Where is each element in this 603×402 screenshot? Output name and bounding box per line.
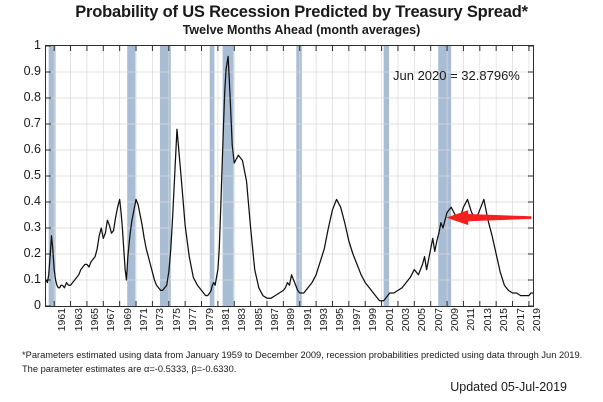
plot-area — [45, 45, 534, 307]
x-tick-label: 1991 — [303, 308, 313, 331]
x-tick-label: 1967 — [106, 308, 116, 331]
y-tick-label: 0.7 — [5, 117, 41, 129]
y-tick-label: 0.5 — [5, 169, 41, 181]
x-tick-label: 2017 — [516, 308, 526, 331]
x-tick-label: 2019 — [532, 308, 542, 331]
footnote: *Parameters estimated using data from Ja… — [22, 349, 592, 376]
x-tick-label: 2011 — [466, 308, 476, 331]
recession-probability-line — [46, 56, 533, 300]
x-tick-label: 2015 — [499, 308, 509, 331]
x-tick-label: 2005 — [417, 308, 427, 331]
footnote-line-1: *Parameters estimated using data from Ja… — [22, 349, 592, 363]
chart-root: Probability of US Recession Predicted by… — [0, 0, 603, 402]
chart-title: Probability of US Recession Predicted by… — [0, 3, 603, 22]
y-axis: 00.10.20.30.40.50.60.70.80.91 — [0, 45, 41, 307]
footnote-line-2: The parameter estimates are α=-0.5333, β… — [22, 363, 592, 377]
x-tick-label: 2009 — [450, 308, 460, 331]
x-tick-label: 1965 — [90, 308, 100, 331]
y-tick-label: 0.3 — [5, 221, 41, 233]
y-tick-label: 0.6 — [5, 143, 41, 155]
y-tick-label: 0.1 — [5, 273, 41, 285]
x-tick-label: 1997 — [352, 308, 362, 331]
updated-date: Updated 05-Jul-2019 — [0, 380, 567, 394]
x-tick-label: 1983 — [237, 308, 247, 331]
x-tick-label: 1985 — [254, 308, 264, 331]
x-tick-label: 1987 — [270, 308, 280, 331]
x-tick-label: 2003 — [401, 308, 411, 331]
x-tick-label: 2001 — [385, 308, 395, 331]
x-axis: 1961196319651967196919711973197519771979… — [45, 308, 534, 348]
y-tick-label: 0 — [5, 299, 41, 311]
x-tick-label: 2013 — [483, 308, 493, 331]
x-tick-label: 1961 — [57, 308, 67, 331]
x-tick-label: 1973 — [155, 308, 165, 331]
x-tick-label: 1989 — [286, 308, 296, 331]
x-tick-label: 1969 — [123, 308, 133, 331]
x-tick-label: 1975 — [172, 308, 182, 331]
y-tick-label: 0.8 — [5, 91, 41, 103]
gridlines — [46, 46, 533, 306]
y-tick-label: 0.9 — [5, 65, 41, 77]
x-tick-label: 2007 — [434, 308, 444, 331]
x-tick-label: 1999 — [368, 308, 378, 331]
x-tick-label: 1977 — [188, 308, 198, 331]
x-tick-label: 1993 — [319, 308, 329, 331]
y-tick-label: 0.4 — [5, 195, 41, 207]
chart-subtitle: Twelve Months Ahead (month averages) — [0, 23, 603, 37]
y-tick-label: 0.2 — [5, 247, 41, 259]
value-annotation: Jun 2020 = 32.8796% — [393, 68, 520, 83]
y-tick-label: 1 — [5, 39, 41, 51]
x-tick-label: 1995 — [335, 308, 345, 331]
x-tick-label: 1979 — [205, 308, 215, 331]
x-tick-label: 1971 — [139, 308, 149, 331]
x-tick-label: 1963 — [74, 308, 84, 331]
chart-canvas — [46, 46, 533, 306]
x-tick-label: 1981 — [221, 308, 231, 331]
